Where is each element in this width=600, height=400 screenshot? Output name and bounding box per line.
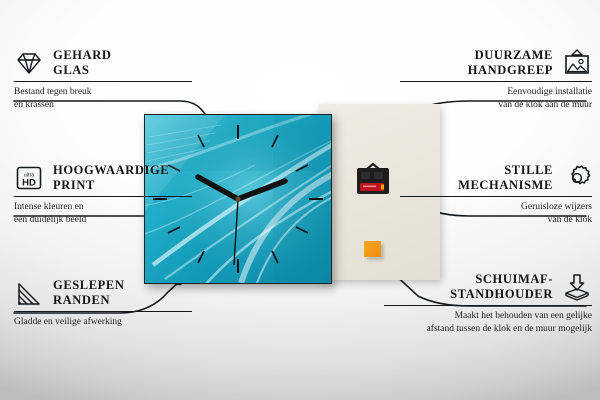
feature-description: Maakt het behouden van een gelijke afsta… — [380, 310, 592, 335]
feature-geslepen-randen: GESLEPEN RANDEN Gladde en veilige afwerk… — [14, 278, 196, 329]
feature-title: SCHUIMAF- STANDHOUDER — [450, 272, 553, 302]
spacer-press-icon — [562, 272, 592, 302]
feature-title: DUURZAME HANDGREEP — [468, 48, 553, 78]
feature-description: Eenvoudige installatie van de klok aan d… — [396, 86, 592, 111]
feature-description: Geruisloze wijzers van de klok — [396, 201, 592, 226]
feature-divider — [384, 305, 592, 306]
feature-divider — [400, 81, 592, 82]
feature-divider — [400, 196, 592, 197]
infographic-canvas: GEHARD GLAS Bestand tegen breuk en krass… — [0, 0, 600, 400]
ultra-hd-badge-icon: ultra HD — [14, 163, 44, 193]
picture-frame-icon — [562, 48, 592, 78]
feature-divider — [14, 311, 192, 312]
feature-description: Intense kleuren en een duidelijk beeld — [14, 201, 196, 226]
feature-title: STILLE MECHANISME — [458, 163, 553, 193]
feature-title: GEHARD GLAS — [53, 48, 111, 78]
feature-description: Bestand tegen breuk en krassen — [14, 86, 196, 111]
feature-title: GESLEPEN RANDEN — [53, 278, 125, 308]
feature-stille-mechanisme: STILLE MECHANISME Geruisloze wijzers van… — [396, 163, 592, 226]
orange-foam-spacer — [364, 241, 381, 257]
gear-icon — [562, 163, 592, 193]
quartz-clock-movement — [353, 162, 393, 198]
feature-description: Gladde en veilige afwerking — [14, 316, 196, 329]
diamond-icon — [14, 48, 44, 78]
feature-schuimafstandhouder: SCHUIMAF- STANDHOUDER Maakt het behouden… — [380, 272, 592, 335]
svg-text:HD: HD — [22, 178, 36, 189]
feature-divider — [14, 81, 192, 82]
feature-divider — [14, 196, 192, 197]
feature-hoogwaardige-print: ultra HD HOOGWAARDIGE PRINT Intense kleu… — [14, 163, 196, 226]
feature-duurzame-handgreep: DUURZAME HANDGREEP Eenvoudige installati… — [396, 48, 592, 111]
feature-title: HOOGWAARDIGE PRINT — [53, 163, 169, 193]
beveled-edge-icon — [14, 278, 44, 308]
feature-gehard-glas: GEHARD GLAS Bestand tegen breuk en krass… — [14, 48, 196, 111]
